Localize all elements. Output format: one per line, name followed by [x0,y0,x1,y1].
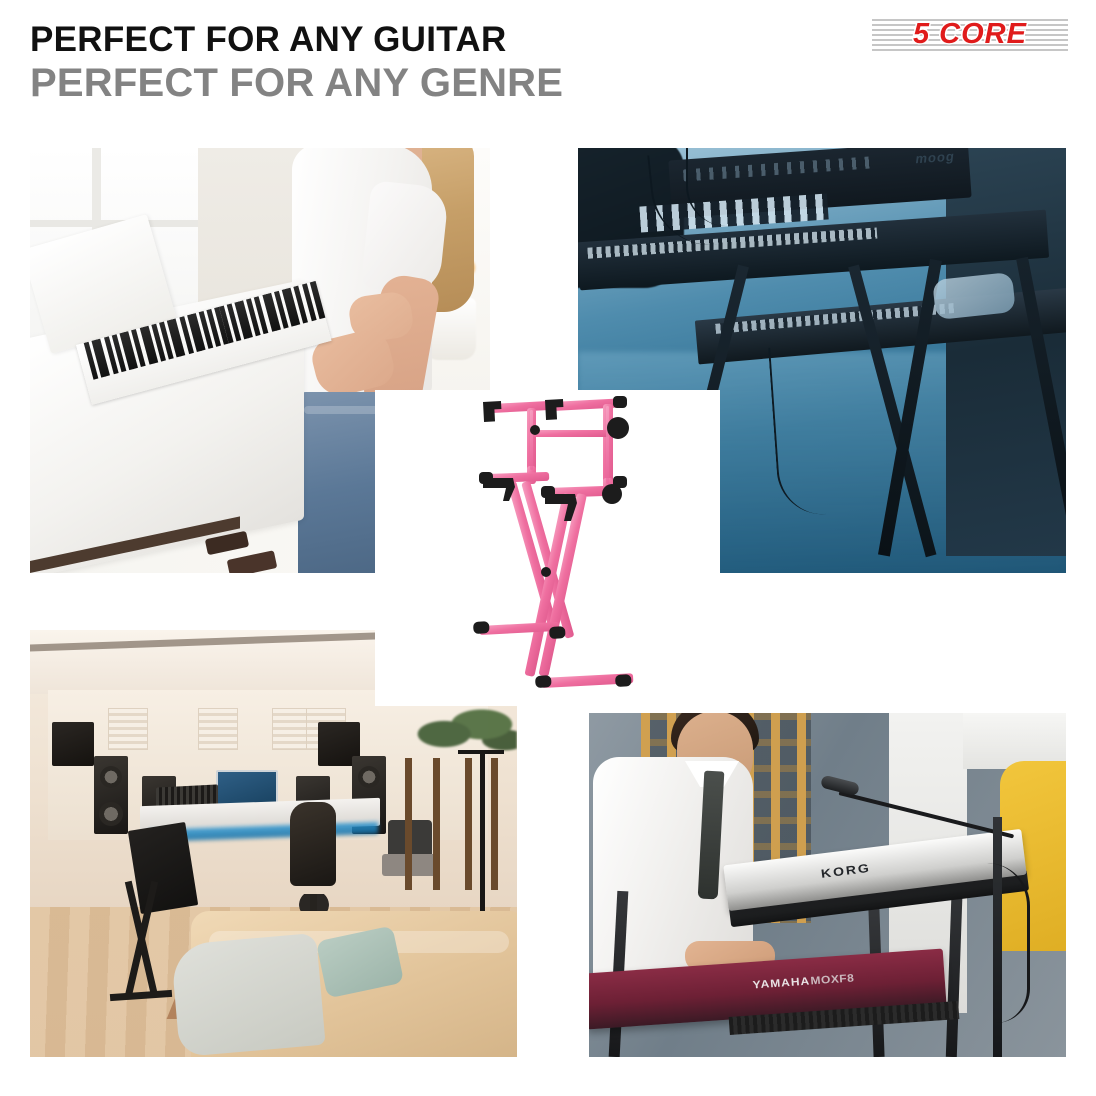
headline-block: PERFECT FOR ANY GUITAR PERFECT FOR ANY G… [30,20,750,105]
acoustic-panel [198,708,238,750]
guitar [465,758,472,890]
stand-foot [110,990,172,1001]
studio-monitor [94,756,128,834]
brand-logo: 5 CORE [872,12,1068,57]
performer-right [946,148,1066,556]
stand-frame [479,398,633,688]
product-card [375,390,720,706]
korg-brand-label: KORG [820,861,871,881]
audio-cable [987,863,1030,1023]
scene-keyboardist: KORG YAMAHA MOXF8 [589,713,1066,1057]
brand-logo-label: 5 CORE [913,18,1027,51]
monitor-woofer [358,766,380,788]
headline-primary: PERFECT FOR ANY GUITAR [30,20,750,60]
yamaha-brand-label: YAMAHA [752,975,810,992]
guitar [433,758,440,890]
chair-back [290,802,336,886]
moog-brand-label: moog [915,149,955,167]
acoustic-panel [108,708,148,750]
microphone-stand [480,750,485,920]
photo-panel-keyboardist: KORG YAMAHA MOXF8 [589,713,1066,1057]
guitar [491,758,498,890]
monitor-woofer [100,766,122,788]
yamaha-model-label: MOXF8 [810,971,855,987]
keyboard-stand-icon [375,390,720,706]
throw-blanket [170,933,325,1057]
marketing-poster: PERFECT FOR ANY GUITAR PERFECT FOR ANY G… [0,0,1096,1096]
headline-secondary: PERFECT FOR ANY GENRE [30,61,750,105]
performer-hand [932,272,1016,320]
guitar [405,758,412,890]
guitar-rack [399,740,509,890]
x-keyboard-stand [104,880,184,1000]
brand-logo-text: 5 CORE [872,12,1068,57]
wall-speaker [52,722,94,766]
monitor-tweeter [99,802,123,826]
